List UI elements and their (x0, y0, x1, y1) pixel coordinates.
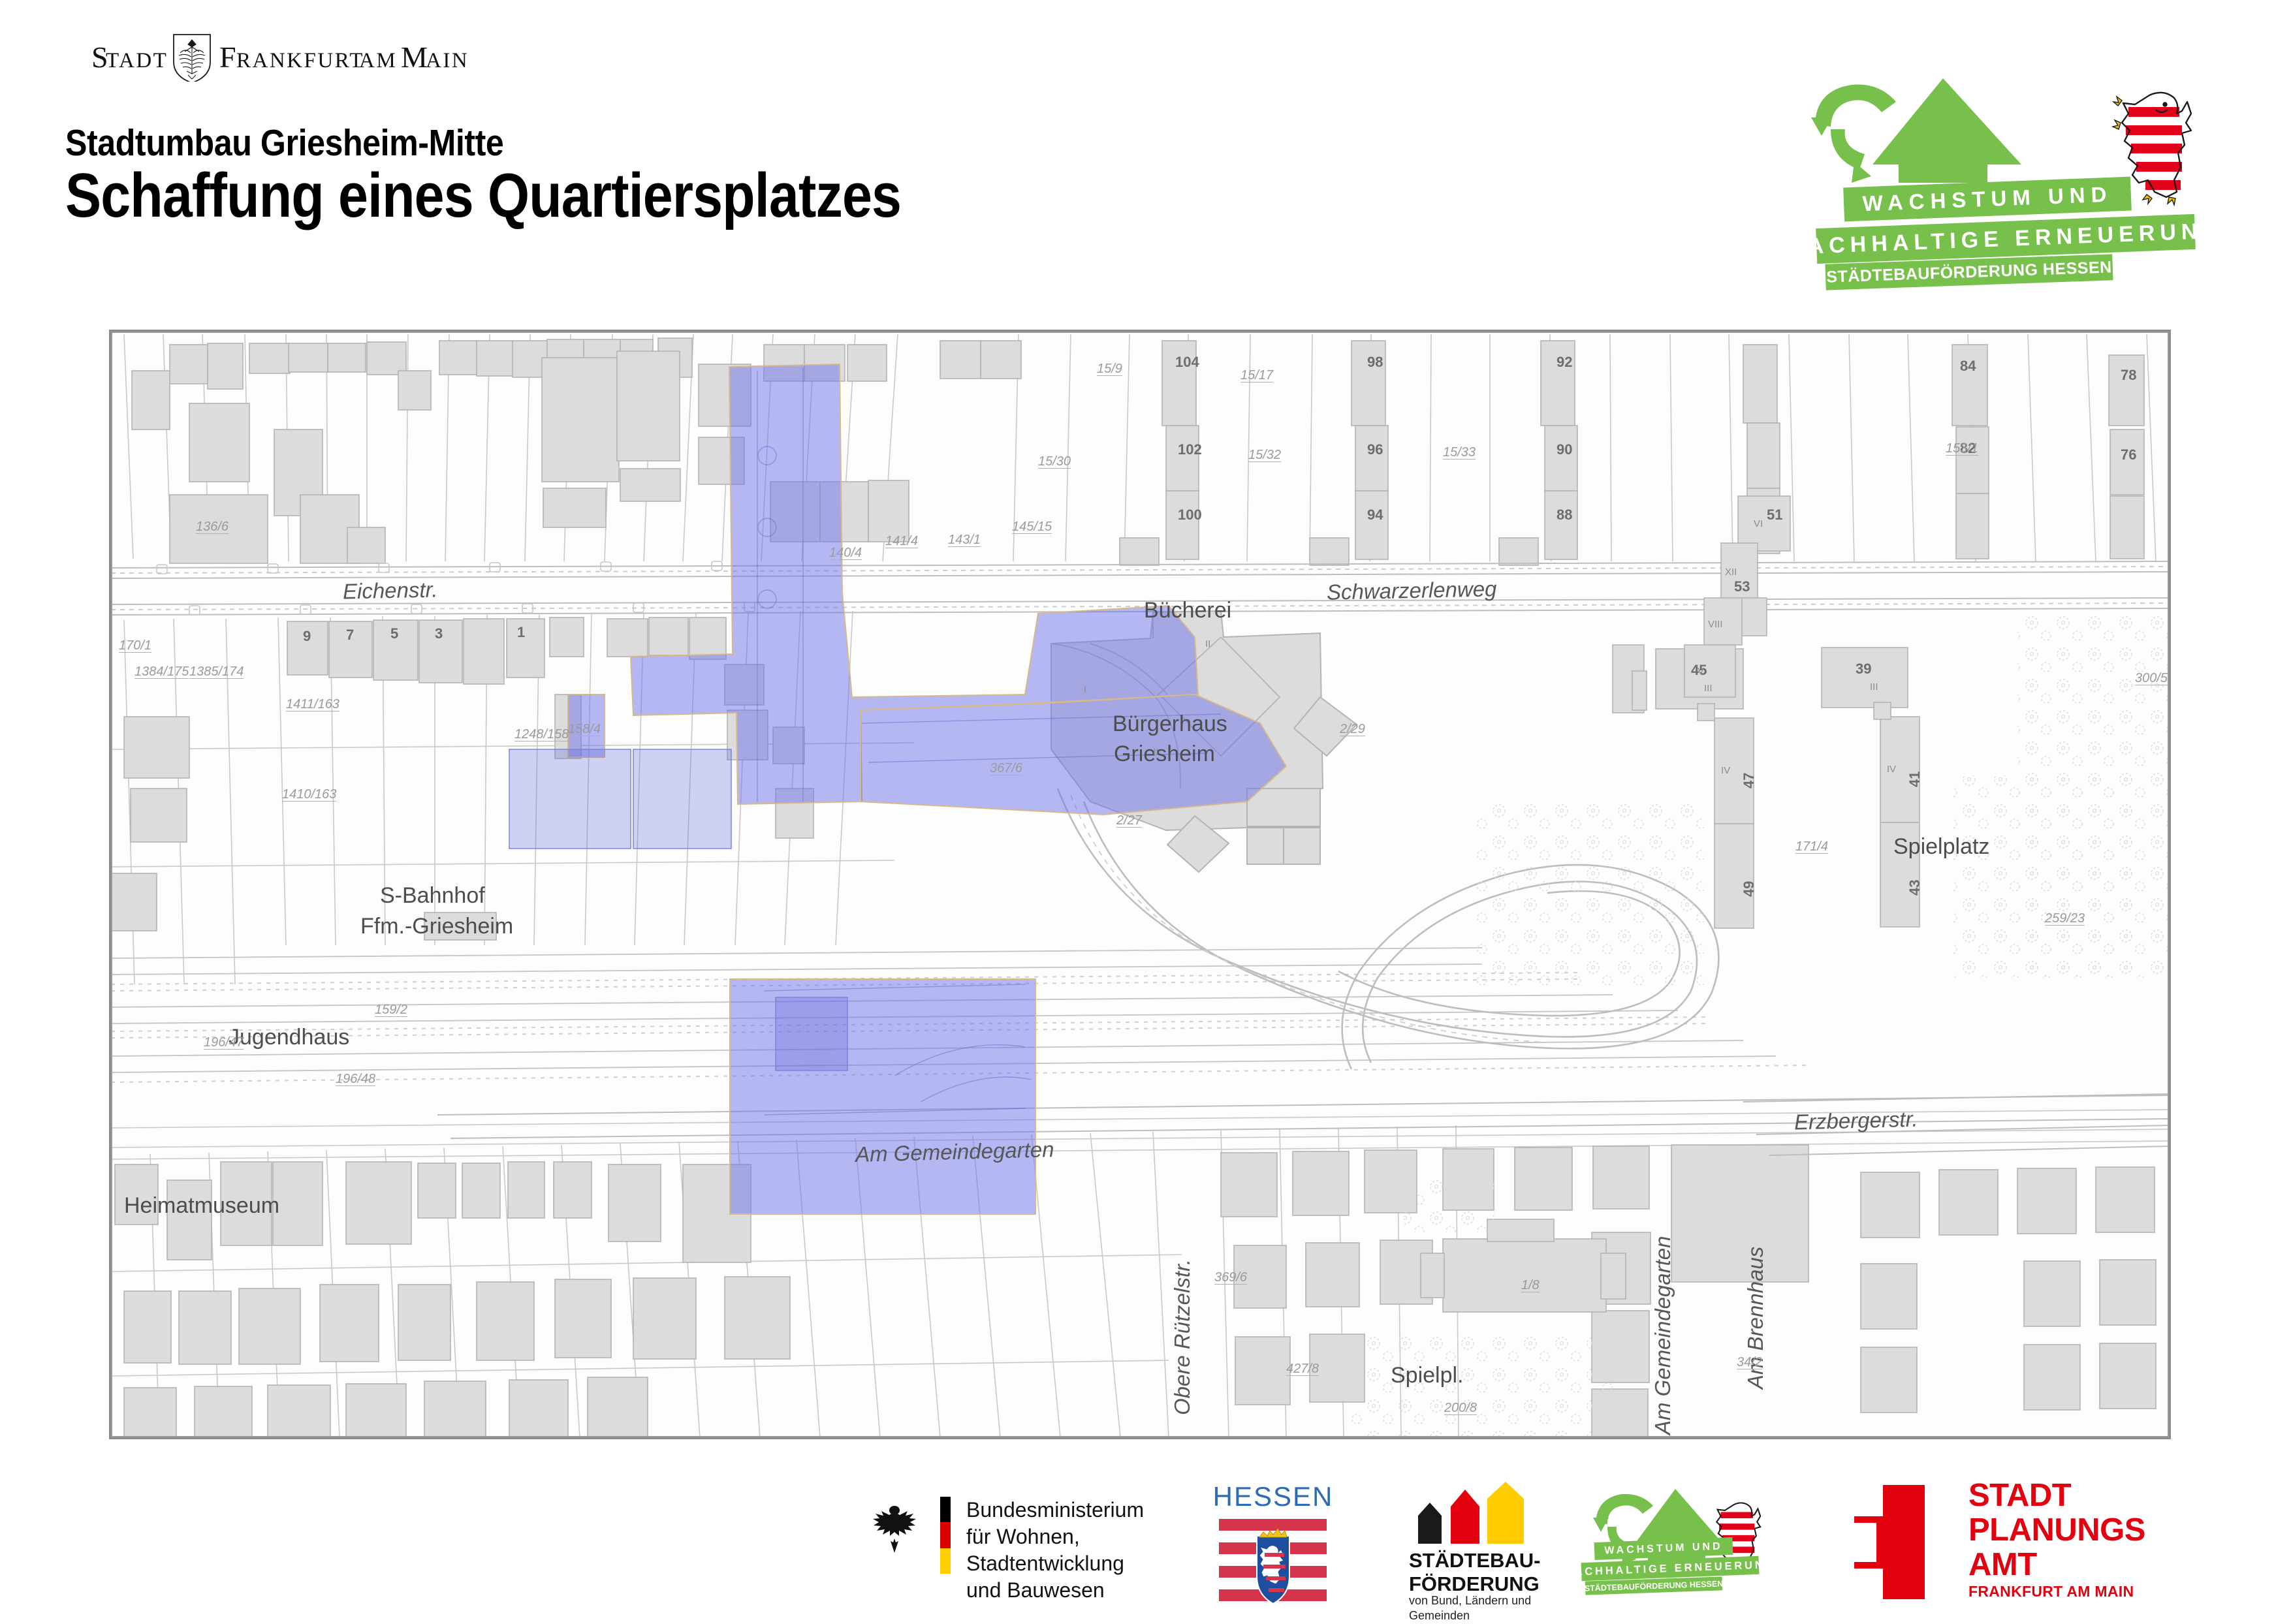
parcel-code: 159/2 (375, 1004, 407, 1017)
parcel-code: 196/47 (204, 1037, 244, 1050)
cadastral-map[interactable]: Eichenstr. Schwarzerlenweg Erzbergerstr.… (109, 330, 2171, 1439)
svg-text:AIN: AIN (426, 49, 469, 72)
wachstum-erneuerung-logo-small: WACHSTUM UND NACHHALTIGE ERNEUERUNG STÄD… (1580, 1485, 1854, 1599)
parcel-code: 427/8 (1286, 1363, 1319, 1376)
parcel-code: 15/33 (1443, 446, 1476, 460)
parcel-code: 143/1 (948, 534, 981, 547)
parcel-code: 170/1 (119, 640, 151, 653)
staedtebau-line1: STÄDTEBAU- (1409, 1549, 1541, 1572)
svg-text:F: F (219, 40, 236, 74)
bmwsb-logo: Bundesministerium für Wohnen, Stadtentwi… (868, 1485, 1234, 1583)
staedtebau-sub2: Gemeinden (1409, 1608, 1531, 1623)
page-title: Schaffung eines Quartiersplatzes (65, 160, 901, 232)
parcel-code: 200/8 (1444, 1402, 1477, 1415)
document-subtitle: Stadtumbau Griesheim-Mitte (65, 121, 503, 164)
svg-text:TADT: TADT (106, 49, 168, 72)
parcel-code: 1384/175 (134, 666, 189, 679)
svg-text:M: M (401, 40, 428, 74)
hessen-coat-of-arms-icon (1219, 1518, 1327, 1609)
parcel-code: 158/4 (568, 723, 601, 736)
city-logo: S TADT F RANKFURT AM M AIN (91, 29, 509, 82)
staedtebau-sub1: von Bund, Ländern und (1409, 1593, 1531, 1608)
svg-text:AM: AM (359, 49, 397, 72)
three-houses-icon (1410, 1482, 1534, 1544)
bmwsb-name: Bundesministerium für Wohnen, Stadtentwi… (966, 1497, 1234, 1604)
parcel-code: 1/8 (1521, 1279, 1540, 1292)
parcel-code: 300/5 (2135, 672, 2168, 685)
bmwsb-line3: und Bauwesen (966, 1577, 1234, 1604)
parcel-code: 196/48 (336, 1073, 375, 1086)
bmwsb-line2: für Wohnen, Stadtentwicklung (966, 1523, 1234, 1577)
parcel-code: 34/2 (1737, 1356, 1762, 1369)
parcel-code: 15/30 (1038, 456, 1071, 469)
staedtebaufoerderung-logo: STÄDTEBAU- FÖRDERUNG von Bund, Ländern u… (1391, 1478, 1606, 1612)
hessen-logo: HESSEN (1211, 1481, 1335, 1605)
german-flag-bar (940, 1497, 951, 1574)
parcel-code: 1411/163 (286, 698, 340, 711)
wachstum-erneuerung-logo: WACHSTUM UND NACHHALTIGE ERNEUERUNG STÄD… (1792, 114, 2242, 258)
staedtebau-name: STÄDTEBAU- FÖRDERUNG (1409, 1549, 1541, 1595)
parcel-code: 15/32 (1248, 449, 1281, 462)
stadtplanungsamt-mark-icon (1854, 1485, 1946, 1599)
parcel-code: 1410/163 (282, 789, 336, 802)
parcel-code: 259/23 (2045, 913, 2085, 926)
stadtplanungsamt-logo: STADT PLANUNGS AMT FRANKFURT AM MAIN (1854, 1477, 2220, 1611)
stadtplanungsamt-name: STADT PLANUNGS AMT (1968, 1478, 2145, 1582)
parcel-code: 2/27 (1116, 815, 1142, 828)
parcel-code: 15/9 (1097, 363, 1122, 376)
parcel-code: 2/29 (1340, 723, 1365, 736)
parcel-code: 367/6 (990, 762, 1022, 775)
staedtebau-sub: von Bund, Ländern und Gemeinden (1409, 1593, 1531, 1624)
federal-eagle-icon (868, 1502, 921, 1561)
parcel-code: 136/6 (196, 521, 229, 534)
parcel-code: 145/15 (1012, 521, 1052, 534)
spa-line3: AMT (1968, 1548, 2145, 1582)
bmwsb-line1: Bundesministerium (966, 1497, 1234, 1523)
spa-city: FRANKFURT AM MAIN (1968, 1583, 2134, 1601)
parcel-code: 141/4 (885, 535, 918, 548)
hessen-wordmark: HESSEN (1211, 1481, 1335, 1512)
parcel-code: 1248/158 (514, 728, 569, 742)
parcel-code: 369/6 (1214, 1272, 1247, 1285)
spa-line2: PLANUNGS (1968, 1513, 2145, 1548)
hessen-lion-icon (2109, 85, 2207, 209)
staedtebau-line2: FÖRDERUNG (1409, 1572, 1541, 1596)
parcel-code: 140/4 (829, 547, 862, 560)
parcel-code: 15/17 (1240, 369, 1273, 383)
parcel-code: 1385/174 (189, 666, 244, 679)
parcel-code: 153/1 (1946, 443, 1978, 456)
parcel-code: 171/4 (1795, 841, 1828, 854)
spa-line1: STADT (1968, 1478, 2145, 1513)
funding-logo-bar: Bundesministerium für Wohnen, Stadtentwi… (0, 1472, 2291, 1616)
svg-text:RANKFURT: RANKFURT (236, 49, 364, 72)
